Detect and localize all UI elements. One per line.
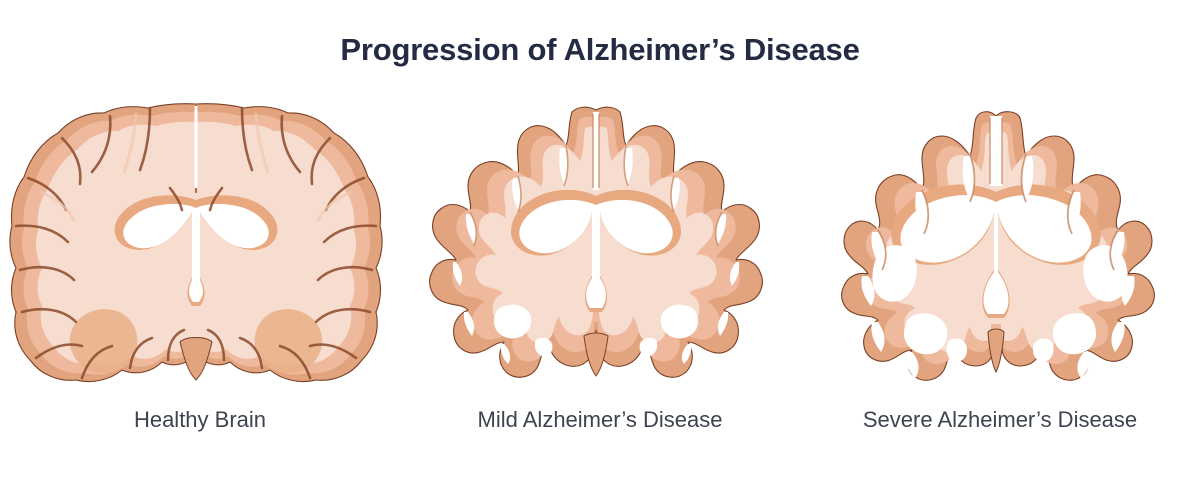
coronal-brain-section-icon-severe	[800, 92, 1200, 392]
coronal-brain-section-icon-mild	[400, 92, 800, 392]
panel-healthy	[0, 92, 400, 392]
severe-brain-drawing	[842, 112, 1155, 381]
coronal-brain-section-icon-healthy	[0, 92, 400, 392]
midline-cleft	[195, 106, 198, 188]
mild-brain-drawing	[430, 107, 763, 377]
midbrain-notch	[988, 329, 1004, 372]
interhemispheric-fissure	[593, 112, 599, 190]
alzheimers-progression-figure: Progression of Alzheimer’s Disease	[0, 0, 1200, 490]
caption-severe: Severe Alzheimer’s Disease	[800, 404, 1200, 444]
midbrain-notch	[180, 338, 212, 381]
caption-mild: Mild Alzheimer’s Disease	[400, 404, 800, 444]
interhemispheric-fissure	[990, 116, 1002, 186]
page-title: Progression of Alzheimer’s Disease	[0, 32, 1200, 68]
panel-captions-row: Healthy Brain Mild Alzheimer’s Disease S…	[0, 404, 1200, 444]
caption-healthy: Healthy Brain	[0, 404, 400, 444]
healthy-brain-drawing	[10, 104, 382, 382]
brain-panels-row	[0, 92, 1200, 392]
panel-severe	[800, 92, 1200, 392]
panel-mild	[400, 92, 800, 392]
midbrain-notch	[584, 333, 608, 376]
